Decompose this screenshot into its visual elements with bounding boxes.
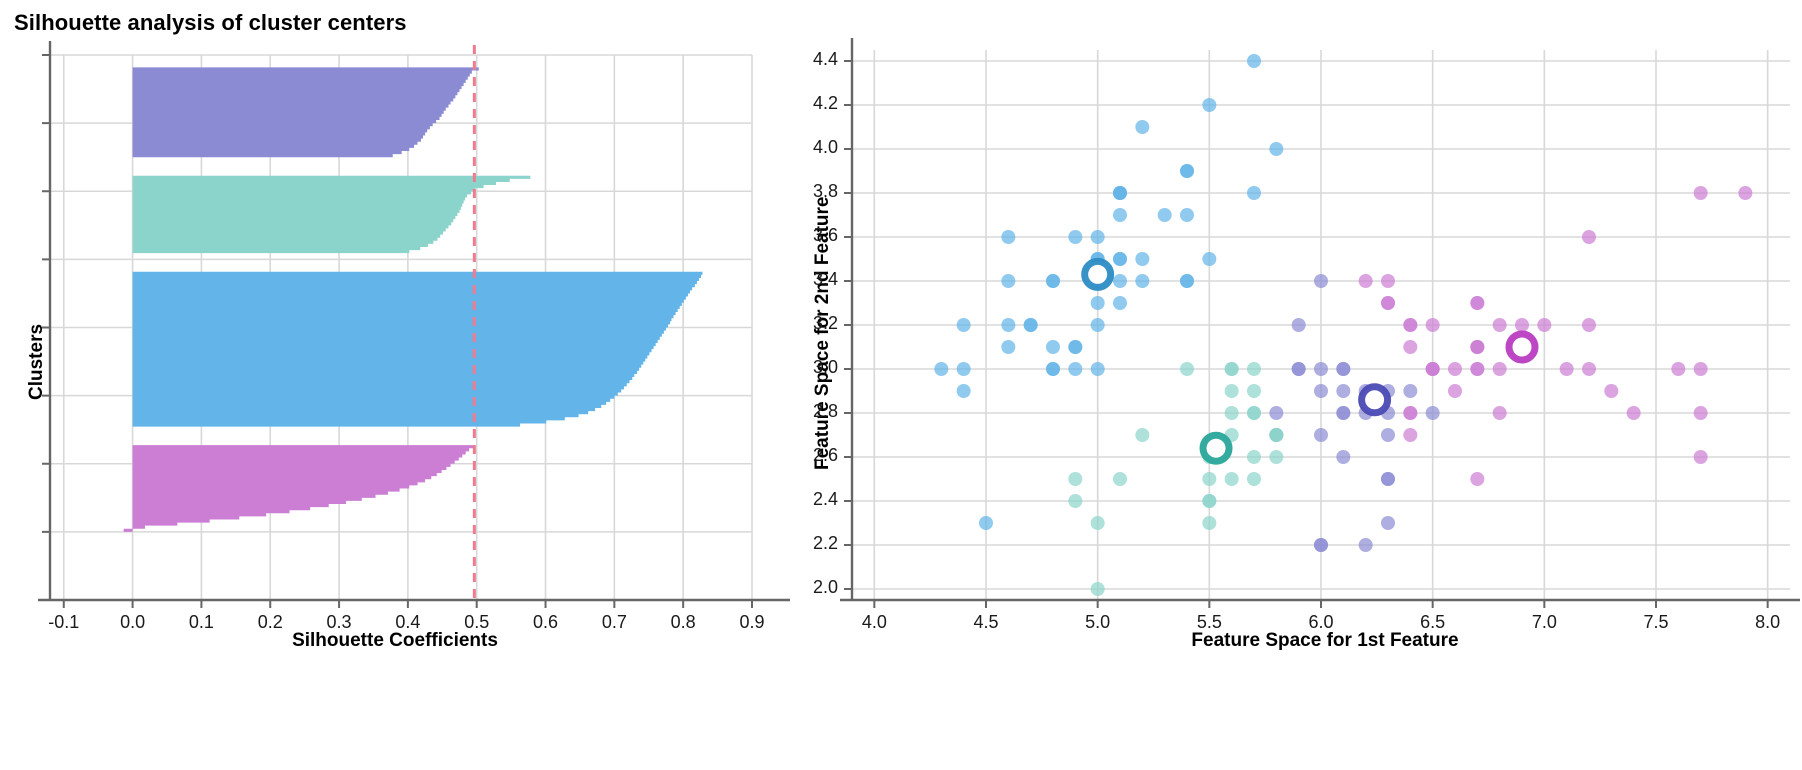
scatter-point: [1336, 406, 1350, 420]
scatter-point: [1247, 384, 1261, 398]
scatter-point: [1180, 208, 1194, 222]
scatter-ytick-label: 2.6: [790, 445, 838, 466]
scatter-point: [934, 362, 948, 376]
scatter-point: [1582, 230, 1596, 244]
scatter-ytick-label: 2.0: [790, 577, 838, 598]
scatter-point: [1046, 340, 1060, 354]
scatter-xtick-label: 7.0: [1504, 612, 1584, 633]
silhouette-yaxis-label: Clusters: [26, 324, 48, 400]
scatter-point: [1046, 274, 1060, 288]
scatter-point: [1113, 472, 1127, 486]
scatter-point: [1001, 230, 1015, 244]
scatter-point: [1671, 362, 1685, 376]
scatter-xtick-label: 7.5: [1616, 612, 1696, 633]
scatter-point: [1001, 340, 1015, 354]
scatter-point: [1470, 340, 1484, 354]
scatter-ytick-label: 3.0: [790, 357, 838, 378]
silhouette-areas: [124, 67, 703, 531]
scatter-ytick-label: 4.4: [790, 49, 838, 70]
scatter-point: [1493, 406, 1507, 420]
scatter-point: [1314, 362, 1328, 376]
scatter-point: [1426, 362, 1440, 376]
scatter-point: [1403, 428, 1417, 442]
scatter-point: [1314, 538, 1328, 552]
scatter-point: [1292, 362, 1306, 376]
scatter-point: [1604, 384, 1618, 398]
scatter-point: [1225, 406, 1239, 420]
scatter-point: [1269, 406, 1283, 420]
scatter-point: [1247, 186, 1261, 200]
scatter-point: [1470, 362, 1484, 376]
scatter-point: [1694, 362, 1708, 376]
scatter-point: [1091, 582, 1105, 596]
scatter-xaxis-label: Feature Space for 1st Feature: [850, 630, 1800, 652]
scatter-point: [1314, 274, 1328, 288]
scatter-point: [1202, 516, 1216, 530]
scatter-point: [957, 318, 971, 332]
scatter-point: [1180, 274, 1194, 288]
scatter-point: [1068, 472, 1082, 486]
scatter-ytick-label: 3.2: [790, 313, 838, 334]
scatter-xtick-label: 6.0: [1281, 612, 1361, 633]
scatter-point: [1359, 538, 1373, 552]
scatter-point: [1336, 384, 1350, 398]
scatter-point: [1046, 362, 1060, 376]
scatter-point: [1448, 384, 1462, 398]
scatter-point: [1202, 472, 1216, 486]
scatter-point: [1091, 296, 1105, 310]
scatter-point: [1001, 274, 1015, 288]
scatter-ytick-label: 3.8: [790, 181, 838, 202]
scatter-point: [1225, 472, 1239, 486]
scatter-point: [1180, 362, 1194, 376]
silhouette-xaxis-label: Silhouette Coefficients: [0, 630, 790, 652]
scatter-point: [957, 362, 971, 376]
cluster-center-marker: [1362, 387, 1388, 413]
scatter-point: [1113, 186, 1127, 200]
scatter-point: [1470, 472, 1484, 486]
scatter-point: [1403, 384, 1417, 398]
scatter-panel: Feature Space for 1st Feature Feature Sp…: [790, 0, 1802, 770]
figure-root: Silhouette analysis of cluster centers S…: [0, 0, 1802, 770]
scatter-point: [1381, 516, 1395, 530]
scatter-point: [1359, 274, 1373, 288]
scatter-ytick-label: 2.8: [790, 401, 838, 422]
scatter-point: [1537, 318, 1551, 332]
scatter-ytick-label: 3.4: [790, 269, 838, 290]
scatter-point: [1560, 362, 1574, 376]
scatter-xtick-label: 5.0: [1058, 612, 1138, 633]
scatter-point: [1091, 318, 1105, 332]
scatter-point: [1381, 274, 1395, 288]
scatter-point: [1738, 186, 1752, 200]
scatter-point: [1113, 208, 1127, 222]
scatter-ytick-label: 4.2: [790, 93, 838, 114]
scatter-point: [1381, 472, 1395, 486]
scatter-ytick-label: 4.0: [790, 137, 838, 158]
scatter-point: [1113, 252, 1127, 266]
scatter-point: [1247, 362, 1261, 376]
scatter-point: [1470, 296, 1484, 310]
silhouette-xtick-label: 0.9: [712, 612, 792, 633]
scatter-point: [1403, 318, 1417, 332]
scatter-point: [1694, 186, 1708, 200]
scatter-point: [1694, 450, 1708, 464]
scatter-point: [1068, 230, 1082, 244]
scatter-point: [1314, 384, 1328, 398]
scatter-ytick-label: 2.4: [790, 489, 838, 510]
silhouette-panel: Silhouette Coefficients Clusters -0.10.0…: [0, 0, 790, 770]
scatter-point: [1135, 120, 1149, 134]
scatter-point: [1202, 252, 1216, 266]
silhouette-band-3: [124, 445, 475, 532]
scatter-xtick-label: 4.5: [946, 612, 1026, 633]
scatter-point: [1202, 98, 1216, 112]
scatter-point: [1113, 296, 1127, 310]
scatter-point: [1448, 362, 1462, 376]
scatter-point: [1627, 406, 1641, 420]
scatter-point: [1336, 450, 1350, 464]
scatter-point: [1403, 340, 1417, 354]
scatter-point: [1381, 296, 1395, 310]
scatter-point: [1582, 318, 1596, 332]
cluster-center-marker: [1203, 435, 1229, 461]
scatter-point: [1068, 340, 1082, 354]
scatter-point: [1091, 516, 1105, 530]
scatter-point: [1091, 230, 1105, 244]
scatter-point: [1269, 450, 1283, 464]
scatter-point: [1694, 406, 1708, 420]
scatter-point: [1582, 362, 1596, 376]
scatter-point: [1225, 362, 1239, 376]
scatter-point: [1426, 406, 1440, 420]
silhouette-band-1: [133, 176, 531, 253]
scatter-point: [1493, 318, 1507, 332]
scatter-ytick-label: 3.6: [790, 225, 838, 246]
scatter-point: [1403, 406, 1417, 420]
silhouette-band-0: [133, 67, 479, 157]
scatter-point: [1247, 450, 1261, 464]
scatter-point: [1336, 362, 1350, 376]
scatter-point: [1091, 362, 1105, 376]
scatter-point: [1135, 274, 1149, 288]
scatter-point: [1202, 494, 1216, 508]
silhouette-band-2: [133, 272, 703, 427]
scatter-point: [1180, 164, 1194, 178]
cluster-centers: [1085, 261, 1535, 461]
scatter-point: [1314, 428, 1328, 442]
scatter-point: [1001, 318, 1015, 332]
scatter-point: [1225, 384, 1239, 398]
scatter-point: [1515, 318, 1529, 332]
scatter-point: [1113, 274, 1127, 288]
scatter-point: [1292, 318, 1306, 332]
scatter-point: [979, 516, 993, 530]
scatter-point: [1269, 142, 1283, 156]
scatter-point: [1135, 252, 1149, 266]
scatter-xtick-label: 4.0: [834, 612, 914, 633]
scatter-xtick-label: 6.5: [1393, 612, 1473, 633]
scatter-point: [1381, 428, 1395, 442]
scatter-point: [1247, 54, 1261, 68]
scatter-point: [957, 384, 971, 398]
scatter-xtick-label: 8.0: [1728, 612, 1802, 633]
scatter-svg: [790, 0, 1802, 770]
scatter-point: [1068, 362, 1082, 376]
scatter-point: [1426, 318, 1440, 332]
cluster-center-marker: [1085, 261, 1111, 287]
silhouette-svg: [0, 0, 790, 770]
scatter-point: [1135, 428, 1149, 442]
scatter-point: [1068, 494, 1082, 508]
cluster-center-marker: [1509, 334, 1535, 360]
scatter-ytick-label: 2.2: [790, 533, 838, 554]
scatter-point: [1158, 208, 1172, 222]
scatter-point: [1493, 362, 1507, 376]
scatter-point: [1247, 472, 1261, 486]
scatter-xtick-label: 5.5: [1169, 612, 1249, 633]
scatter-point: [1024, 318, 1038, 332]
scatter-point: [1247, 406, 1261, 420]
scatter-point: [1269, 428, 1283, 442]
